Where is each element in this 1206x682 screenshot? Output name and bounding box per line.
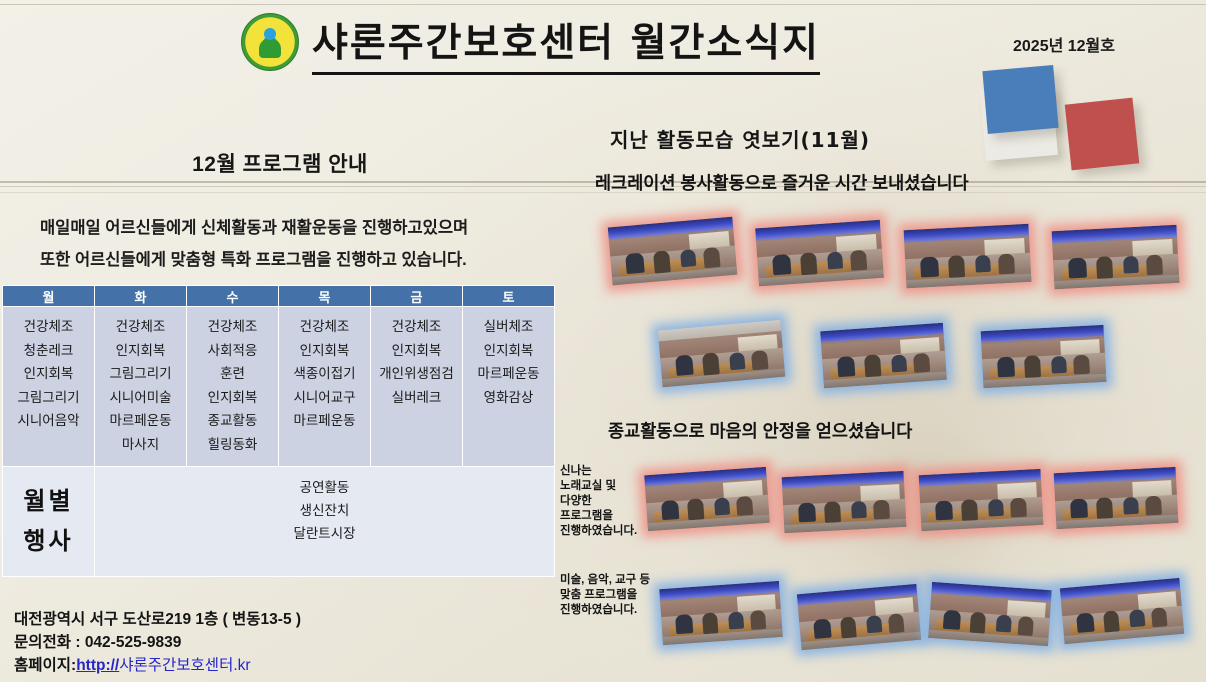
table-cell-fri: 건강체조 인지회복 개인위생점검 실버레크	[371, 307, 463, 467]
activity-photo	[658, 320, 785, 388]
program-photo	[1060, 578, 1184, 644]
program-item: 시니어미술	[97, 386, 184, 410]
program-item: 종교활동	[189, 409, 276, 433]
issue-date: 2025년 12월호	[1013, 32, 1115, 56]
footer-homepage: 홈페이지:http://샤론주간보호센터.kr	[14, 654, 554, 677]
program-item: 건강체조	[281, 315, 368, 339]
program-item: 그림그리기	[5, 386, 92, 410]
table-cell-tue: 건강체조 인지회복 그림그리기 시니어미술 마르페운동 마사지	[95, 307, 187, 467]
table-header-fri: 금	[371, 286, 463, 307]
program-item: 건강체조	[373, 315, 460, 339]
table-header-thu: 목	[279, 286, 371, 307]
program-item: 실버체조	[465, 315, 552, 339]
program-intro: 매일매일 어르신들에게 신체활동과 재활운동을 진행하고있으며 또한 어르신들에…	[40, 212, 560, 276]
footer-address: 대전광역시 서구 도산로219 1층 ( 변동13-5 )	[14, 608, 554, 631]
program-item: 마사지	[97, 433, 184, 457]
photo-caption-music: 신나는 노래교실 및 다양한 프로그램을 진행하였습니다.	[560, 464, 656, 539]
weekly-program-table: 월 화 수 목 금 토 건강체조 청춘레크 인지회복 그림그리기 시니어음악 건…	[2, 285, 555, 577]
religion-heading: 종교활동으로 마음의 안정을 얻으셨습니다	[608, 418, 912, 443]
activity-photo	[1052, 225, 1180, 289]
activity-photo	[981, 325, 1107, 388]
contact-footer: 대전광역시 서구 도산로219 1층 ( 변동13-5 ) 문의전화 : 042…	[14, 608, 554, 677]
footer-homepage-label: 홈페이지:	[14, 657, 76, 674]
program-photo	[659, 581, 783, 645]
table-header-wed: 수	[187, 286, 279, 307]
program-item: 인지회복	[281, 339, 368, 363]
homepage-domain[interactable]: 샤론주간보호센터.kr	[119, 657, 250, 674]
decorative-square-red	[1065, 98, 1140, 171]
homepage-link[interactable]: http://	[76, 657, 119, 674]
program-item: 그림그리기	[97, 362, 184, 386]
program-item: 인지회복	[465, 339, 552, 363]
program-item: 건강체조	[5, 315, 92, 339]
program-item: 마르페운동	[281, 409, 368, 433]
decorative-square-blue	[982, 65, 1058, 134]
monthly-event-row: 월별 행사 공연활동 생신잔치 달란트시장	[3, 467, 555, 577]
monthly-event-label: 월별 행사	[3, 467, 95, 577]
table-cell-thu: 건강체조 인지회복 색종이접기 시니어교구 마르페운동	[279, 307, 371, 467]
table-header-sat: 토	[463, 286, 555, 307]
religion-photo	[644, 467, 770, 531]
activity-photo	[820, 323, 947, 388]
program-item: 인지회복	[97, 339, 184, 363]
activity-photo	[904, 224, 1032, 288]
program-item: 색종이접기	[281, 362, 368, 386]
program-item: 개인위생점검	[373, 362, 460, 386]
program-item: 마르페운동	[97, 409, 184, 433]
table-cell-mon: 건강체조 청춘레크 인지회복 그림그리기 시니어음악	[3, 307, 95, 467]
religion-photo	[919, 469, 1044, 531]
program-item: 사회적응	[189, 339, 276, 363]
footer-phone: 문의전화 : 042-525-9839	[14, 631, 554, 654]
monthly-event-list: 공연활동 생신잔치 달란트시장	[95, 467, 555, 577]
program-item: 인지회복	[189, 386, 276, 410]
table-row: 건강체조 청춘레크 인지회복 그림그리기 시니어음악 건강체조 인지회복 그림그…	[3, 307, 555, 467]
program-photo	[928, 582, 1052, 646]
program-photo	[797, 584, 921, 650]
activity-photo	[755, 220, 884, 287]
program-section-title: 12월 프로그램 안내	[0, 148, 560, 178]
program-item: 시니어음악	[5, 409, 92, 433]
page-title: 샤론주간보호센터 월간소식지	[312, 12, 820, 75]
table-header-mon: 월	[3, 286, 95, 307]
monthly-event-item: 달란트시장	[95, 522, 554, 545]
program-item: 마르페운동	[465, 362, 552, 386]
program-item: 영화감상	[465, 386, 552, 410]
program-item: 인지회복	[373, 339, 460, 363]
program-item: 실버레크	[373, 386, 460, 410]
program-intro-line-2: 또한 어르신들에게 맞춤형 특화 프로그램을 진행하고 있습니다.	[40, 244, 560, 276]
activity-photo	[608, 217, 738, 286]
program-item: 인지회복	[5, 362, 92, 386]
table-header-row: 월 화 수 목 금 토	[3, 286, 555, 307]
program-item: 청춘레크	[5, 339, 92, 363]
recreation-heading: 레크레이션 봉사활동으로 즐거운 시간 보내셨습니다	[595, 170, 969, 195]
religion-photo	[1054, 467, 1179, 529]
newsletter-page: 샤론주간보호센터 월간소식지 2025년 12월호 12월 프로그램 안내 매일…	[0, 0, 1206, 682]
past-activities-heading: 지난 활동모습 엿보기(11월)	[610, 124, 870, 153]
program-item: 건강체조	[97, 315, 184, 339]
program-item: 시니어교구	[281, 386, 368, 410]
monthly-event-item: 생신잔치	[95, 499, 554, 522]
table-header-tue: 화	[95, 286, 187, 307]
program-intro-line-1: 매일매일 어르신들에게 신체활동과 재활운동을 진행하고있으며	[40, 212, 560, 244]
photo-caption-program: 미술, 음악, 교구 등 맞춤 프로그램을 진행하였습니다.	[560, 573, 675, 618]
program-item: 훈련	[189, 362, 276, 386]
monthly-event-item: 공연활동	[95, 476, 554, 499]
table-cell-sat: 실버체조 인지회복 마르페운동 영화감상	[463, 307, 555, 467]
program-item: 힐링동화	[189, 433, 276, 457]
shalom-center-emblem-icon	[241, 13, 299, 71]
program-item: 건강체조	[189, 315, 276, 339]
religion-photo	[782, 471, 907, 533]
table-cell-wed: 건강체조 사회적응 훈련 인지회복 종교활동 힐링동화	[187, 307, 279, 467]
